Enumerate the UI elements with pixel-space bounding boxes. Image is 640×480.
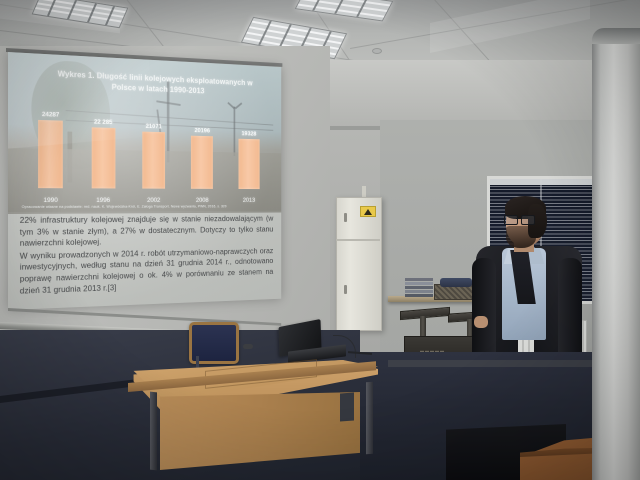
wall-column	[592, 28, 640, 480]
cabinet-door-split	[336, 239, 380, 241]
bar-2008	[191, 135, 213, 189]
projection-screen[interactable]: Wykres 1. Długość linii kolejowych ekspl…	[8, 52, 281, 310]
desk-leg-right	[366, 382, 373, 454]
bar-2002	[142, 132, 165, 189]
bar-2013	[238, 139, 259, 189]
cabinet-handle-lower[interactable]	[344, 285, 347, 294]
desk-leg-left	[150, 392, 157, 471]
desk-side-panel	[340, 393, 354, 422]
lecture-room-photo: Wykres 1. Długość linii kolejowych ekspl…	[0, 0, 640, 480]
ceiling-sensor-icon	[372, 48, 382, 54]
glasses-icon	[504, 215, 534, 223]
slide-body-text: 22% infrastruktury kolejowej znajduje si…	[20, 213, 274, 297]
high-voltage-warning-icon	[360, 206, 376, 217]
chart-source-note: Opracowanie własne na podstawie: red. na…	[22, 204, 277, 209]
stacked-books	[405, 278, 433, 297]
slide-paragraph-2: W wyniku prowadzonych w 2014 r. robót ut…	[20, 246, 274, 297]
blinds-headrail[interactable]	[490, 179, 595, 185]
screen-sheen	[8, 52, 156, 151]
slide-paragraph-1: 22% infrastruktury kolejowej znajduje si…	[20, 213, 274, 249]
bar-value-2008: 20196	[179, 127, 225, 135]
hand-left	[474, 316, 488, 328]
electrical-cabinet[interactable]	[336, 197, 382, 331]
skirting-board-back	[388, 360, 598, 367]
cabinet-handle-upper[interactable]	[344, 213, 347, 222]
bar-value-2013: 19328	[227, 130, 271, 138]
wall-column-cap	[592, 28, 640, 44]
cart-post-left	[420, 316, 426, 338]
computer-mouse[interactable]	[243, 344, 253, 349]
